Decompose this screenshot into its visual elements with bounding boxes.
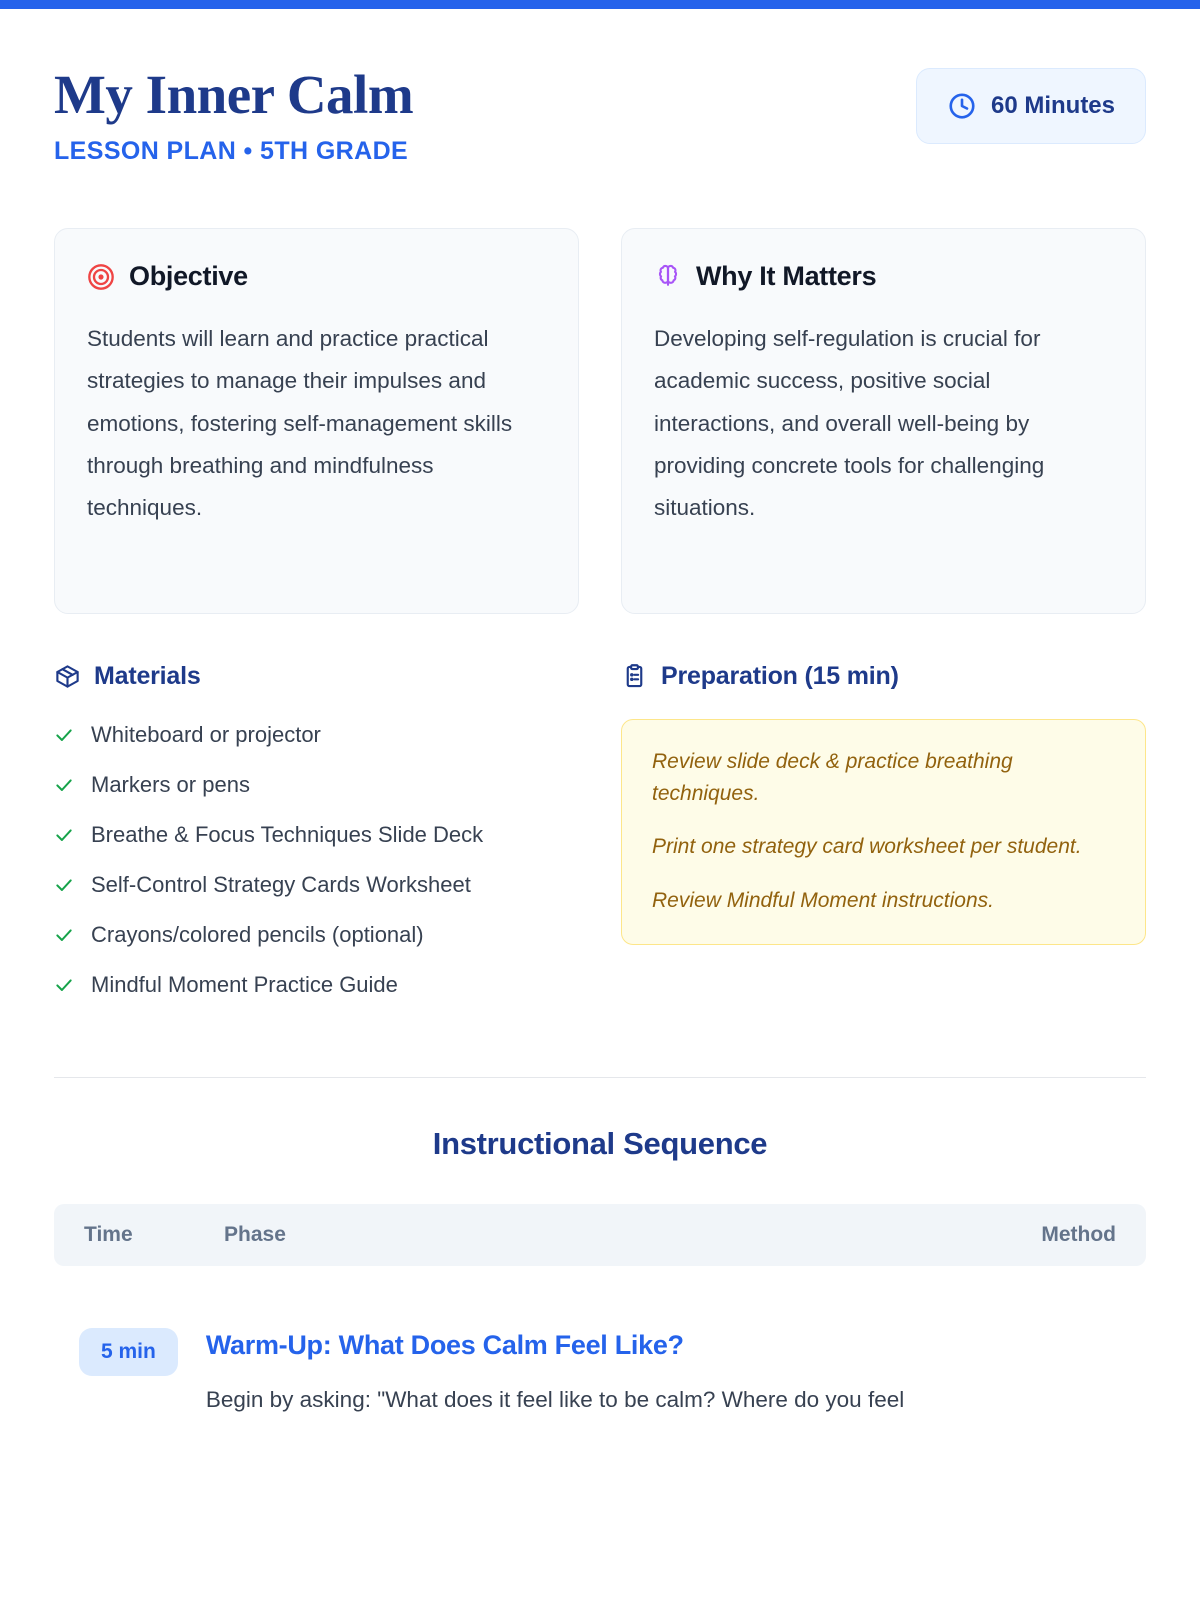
page-content: My Inner Calm LESSON PLAN • 5TH GRADE 60… [0,9,1200,1418]
column-header-time: Time [84,1223,224,1247]
check-icon [54,775,74,795]
brain-icon [654,263,682,291]
list-item: Whiteboard or projector [54,719,579,751]
objective-card-header: Objective [87,261,546,292]
preparation-item: Review slide deck & practice breathing t… [652,746,1115,809]
preparation-header: Preparation (15 min) [621,662,1146,691]
material-label: Markers or pens [91,769,250,801]
column-header-method: Method [1041,1223,1116,1247]
phase-content: Warm-Up: What Does Calm Feel Like? Begin… [206,1328,1116,1418]
check-icon [54,725,74,745]
list-item: Self-Control Strategy Cards Worksheet [54,869,579,901]
why-it-matters-card-body: Developing self-regulation is crucial fo… [654,318,1113,528]
phase-title: Warm-Up: What Does Calm Feel Like? [206,1330,1116,1361]
sequence-heading: Instructional Sequence [54,1126,1146,1162]
materials-column: Materials Whiteboard or projector Marker… [54,662,579,1018]
preparation-item: Print one strategy card worksheet per st… [652,831,1115,863]
materials-prep-section: Materials Whiteboard or projector Marker… [54,662,1146,1018]
materials-title: Materials [94,662,201,691]
list-item: Mindful Moment Practice Guide [54,969,579,1001]
section-divider [54,1077,1146,1078]
why-it-matters-card-header: Why It Matters [654,261,1113,292]
lesson-plan-page: My Inner Calm LESSON PLAN • 5TH GRADE 60… [0,0,1200,1600]
objective-card-body: Students will learn and practice practic… [87,318,546,528]
preparation-box: Review slide deck & practice breathing t… [621,719,1146,945]
objective-card: Objective Students will learn and practi… [54,228,579,614]
top-accent-bar [0,0,1200,9]
info-cards: Objective Students will learn and practi… [54,228,1146,614]
list-item: Markers or pens [54,769,579,801]
time-badge: 5 min [79,1328,178,1376]
title-block: My Inner Calm LESSON PLAN • 5TH GRADE [54,61,413,166]
phase-description: Begin by asking: "What does it feel like… [206,1383,1116,1418]
list-item: Crayons/colored pencils (optional) [54,919,579,951]
material-label: Mindful Moment Practice Guide [91,969,398,1001]
page-header: My Inner Calm LESSON PLAN • 5TH GRADE 60… [54,61,1146,166]
table-row: 5 min Warm-Up: What Does Calm Feel Like?… [54,1328,1146,1418]
preparation-column: Preparation (15 min) Review slide deck &… [621,662,1146,1018]
material-label: Crayons/colored pencils (optional) [91,919,424,951]
material-label: Whiteboard or projector [91,719,321,751]
preparation-item: Review Mindful Moment instructions. [652,885,1115,917]
column-header-phase: Phase [224,1223,1041,1247]
why-it-matters-card: Why It Matters Developing self-regulatio… [621,228,1146,614]
material-label: Breathe & Focus Techniques Slide Deck [91,819,483,851]
check-icon [54,825,74,845]
check-icon [54,975,74,995]
list-item: Breathe & Focus Techniques Slide Deck [54,819,579,851]
check-icon [54,925,74,945]
clipboard-icon [621,663,648,690]
materials-list: Whiteboard or projector Markers or pens … [54,719,579,1000]
page-subtitle: LESSON PLAN • 5TH GRADE [54,137,413,166]
target-icon [87,263,115,291]
package-icon [54,663,81,690]
objective-card-title: Objective [129,261,248,292]
sequence-table-header: Time Phase Method [54,1204,1146,1266]
clock-icon [947,91,977,121]
duration-badge: 60 Minutes [916,68,1146,144]
why-it-matters-card-title: Why It Matters [696,261,876,292]
materials-header: Materials [54,662,579,691]
duration-label: 60 Minutes [991,92,1115,120]
material-label: Self-Control Strategy Cards Worksheet [91,869,471,901]
check-icon [54,875,74,895]
page-title: My Inner Calm [54,65,413,124]
preparation-title: Preparation (15 min) [661,662,899,691]
